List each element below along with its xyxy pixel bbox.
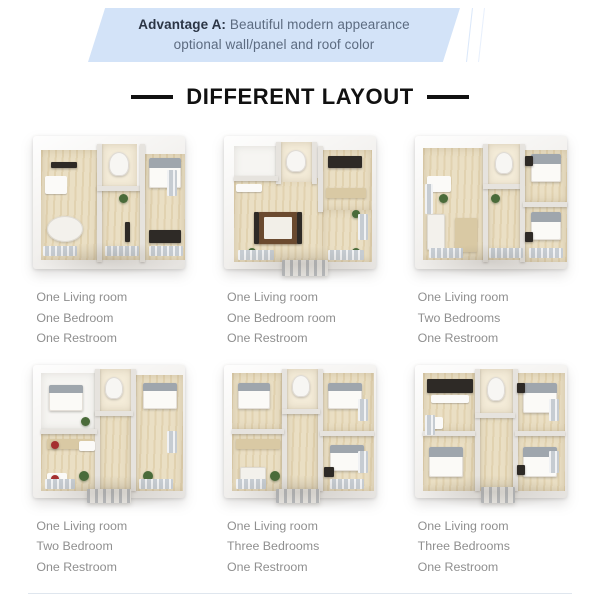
caption-line: Two Bedrooms <box>418 308 576 329</box>
title-rule-right <box>427 95 469 99</box>
layout-card[interactable]: One Living room Two Bedroom One Restroom <box>14 355 205 578</box>
caption-line: One Restroom <box>418 557 576 578</box>
page-title: DIFFERENT LAYOUT <box>186 84 414 110</box>
banner-accent-stripe-1 <box>466 8 473 62</box>
caption-line: One Restroom <box>227 328 385 349</box>
layout-caption: One Living room Two Bedroom One Restroom <box>24 516 194 578</box>
caption-line: One Bedroom <box>36 308 194 329</box>
layout-card[interactable]: One Living room Three Bedrooms One Restr… <box>395 355 586 578</box>
caption-line: One Restroom <box>227 557 385 578</box>
caption-line: One Bedroom room <box>227 308 385 329</box>
layout-grid: One Living room One Bedroom One Restroom <box>0 126 600 577</box>
caption-line: Two Bedroom <box>36 536 194 557</box>
caption-line: One Living room <box>36 516 194 537</box>
advantage-label: Advantage A: <box>138 17 226 32</box>
caption-line: One Living room <box>227 516 385 537</box>
section-title-row: DIFFERENT LAYOUT <box>0 84 600 110</box>
layout-card[interactable]: One Living room One Bedroom room One Res… <box>205 126 396 349</box>
floorplan-image-3 <box>403 126 579 281</box>
layout-caption: One Living room Two Bedrooms One Restroo… <box>406 287 576 349</box>
advantage-banner-line-2: optional wall/panel and roof color <box>174 37 375 54</box>
layout-caption: One Living room One Bedroom One Restroom <box>24 287 194 349</box>
floorplan-image-4 <box>21 355 197 510</box>
caption-line: One Restroom <box>36 328 194 349</box>
title-rule-left <box>131 95 173 99</box>
layout-card[interactable]: One Living room Two Bedrooms One Restroo… <box>395 126 586 349</box>
advantage-banner-body: Advantage A: Beautiful modern appearance… <box>88 8 460 62</box>
floorplan-image-2 <box>212 126 388 281</box>
caption-line: One Restroom <box>36 557 194 578</box>
floorplan-image-5 <box>212 355 388 510</box>
caption-line: Three Bedrooms <box>227 536 385 557</box>
caption-line: One Living room <box>36 287 194 308</box>
caption-line: One Restroom <box>418 328 576 349</box>
advantage-line-1-text: Beautiful modern appearance <box>226 17 410 32</box>
layout-card[interactable]: One Living room One Bedroom One Restroom <box>14 126 205 349</box>
caption-line: Three Bedrooms <box>418 536 576 557</box>
floorplan-image-1 <box>21 126 197 281</box>
layout-card[interactable]: One Living room Three Bedrooms One Restr… <box>205 355 396 578</box>
caption-line: One Living room <box>227 287 385 308</box>
bottom-divider <box>28 593 572 594</box>
advantage-banner: Advantage A: Beautiful modern appearance… <box>0 8 600 70</box>
layout-caption: One Living room One Bedroom room One Res… <box>215 287 385 349</box>
caption-line: One Living room <box>418 516 576 537</box>
caption-line: One Living room <box>418 287 576 308</box>
advantage-banner-line-1: Advantage A: Beautiful modern appearance <box>138 17 409 34</box>
floorplan-image-6 <box>403 355 579 510</box>
banner-accent-stripe-2 <box>478 8 485 62</box>
layout-caption: One Living room Three Bedrooms One Restr… <box>215 516 385 578</box>
layout-caption: One Living room Three Bedrooms One Restr… <box>406 516 576 578</box>
